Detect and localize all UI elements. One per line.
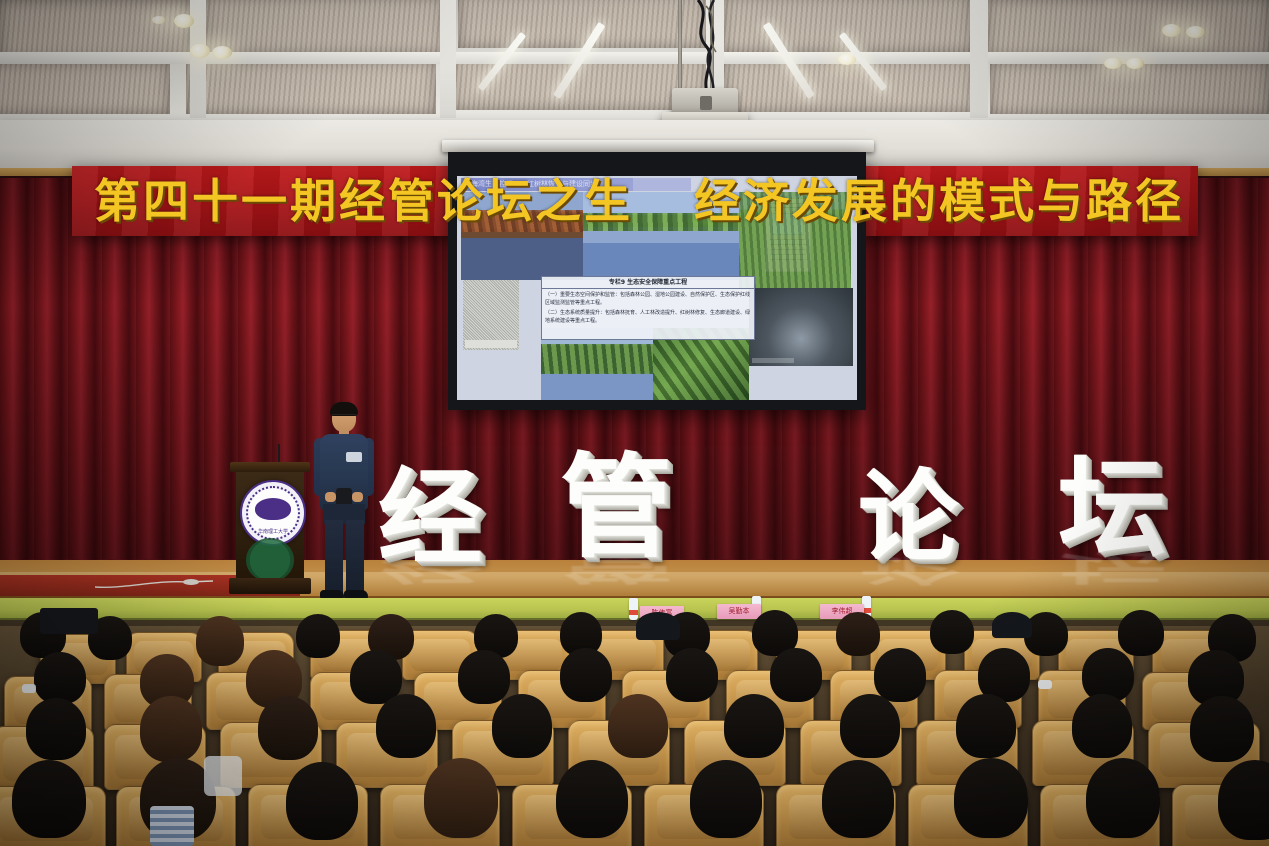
slide-title-tail	[633, 178, 691, 191]
secondary-badge-icon	[246, 538, 294, 582]
speaker-figure	[312, 404, 376, 604]
name-placard: 吴勤本	[717, 604, 761, 619]
stage-letter-3: 论	[858, 468, 958, 568]
audience-head	[1086, 758, 1160, 838]
speaker-hand-left	[325, 492, 336, 502]
audience-head	[690, 760, 762, 838]
audience-head	[1072, 694, 1132, 758]
shirt-logo-icon	[346, 452, 362, 462]
audience-head	[560, 648, 612, 702]
water-bottle	[629, 598, 638, 620]
crest-text: 华南理工大学	[242, 528, 304, 535]
audience-head	[874, 648, 926, 702]
face-mask-icon	[1038, 680, 1052, 689]
recessed-light	[1126, 58, 1144, 69]
audience-head	[196, 616, 244, 666]
auditorium-photo: 第四十一期经管论坛之生 经济发展的模式与路径 滨海湾生态控间——红树林恢复与建设…	[0, 0, 1269, 846]
stage-letter-2: 管	[560, 452, 672, 564]
audience-head	[724, 694, 784, 758]
recessed-light	[1186, 26, 1205, 38]
podium-body: 华南理工大学	[236, 472, 304, 580]
graduation-cap	[40, 608, 98, 634]
callout-heading: 专栏9 生态安全保障重点工程	[542, 277, 754, 289]
audience-head	[836, 612, 880, 656]
audience-head	[492, 694, 552, 758]
recessed-light	[212, 46, 232, 59]
audience-head	[556, 760, 628, 838]
podium-top	[230, 462, 310, 472]
audience-head	[608, 694, 668, 758]
audience-head	[930, 610, 974, 654]
slide-callout-box: 专栏9 生态安全保障重点工程 （一）重要生态空间保护和监管：包括森林公园、湿地公…	[541, 276, 755, 340]
photo-caption	[465, 340, 517, 348]
audience-head	[26, 698, 86, 760]
recessed-light	[1162, 24, 1181, 37]
speaker-leg-left	[325, 520, 343, 594]
audience-head	[770, 648, 822, 702]
face-mask-icon	[22, 684, 36, 693]
audience-head	[12, 760, 86, 838]
microphone-cable	[95, 578, 215, 590]
speaker-leg-right	[346, 520, 364, 594]
audience-head	[1190, 696, 1254, 762]
white-bag	[204, 756, 242, 796]
podium-base	[229, 578, 311, 594]
recessed-light	[174, 14, 194, 28]
callout-paragraph-1: （一）重要生态空间保护和监管：包括森林公园、湿地公园建设、自然保护区、生态保护红…	[545, 291, 751, 307]
audience-head	[258, 696, 318, 760]
audience-head	[840, 694, 900, 758]
audience-head	[296, 614, 340, 658]
striped-shirt	[150, 806, 194, 846]
audience-head	[1118, 610, 1164, 656]
recessed-light	[152, 16, 166, 24]
photo-caption	[752, 358, 794, 363]
stage-letter-1: 经	[378, 466, 482, 570]
audience-head	[286, 762, 358, 840]
projector-cables	[690, 0, 730, 100]
audience-head	[822, 760, 894, 838]
audience-head	[954, 758, 1028, 838]
screen-roller-housing	[442, 140, 874, 152]
audience-head	[140, 696, 202, 762]
audience-head	[956, 694, 1016, 758]
recessed-light	[1104, 58, 1122, 69]
speaker-hand-right	[352, 492, 363, 502]
audience-head	[424, 758, 498, 838]
audience-head	[458, 650, 510, 704]
university-crest-icon: 华南理工大学	[240, 480, 306, 546]
audience-head	[376, 694, 436, 758]
glasses-icon	[332, 414, 356, 419]
audience-head	[666, 648, 718, 702]
recessed-light	[190, 44, 210, 58]
banner-left-text: 第四十一期经管论坛之生	[94, 172, 633, 230]
dark-night-photo	[749, 288, 853, 366]
grayscale-aerial-photo	[463, 280, 519, 350]
callout-paragraph-2: （二）生态系统质量提升：包括森林抚育、人工林改造提升、红树林修复、生态廊道建设、…	[545, 309, 751, 325]
stage-letter-4: 坛	[1058, 456, 1166, 564]
podium: 华南理工大学	[234, 462, 306, 594]
banner-right-text: 经济发展的模式与路径	[694, 172, 1184, 230]
placard-name: 吴勤本	[717, 604, 761, 619]
audience-cap	[992, 612, 1032, 638]
podium-microphone	[278, 444, 280, 464]
audience-cap	[636, 612, 680, 640]
audience-head	[34, 652, 86, 704]
